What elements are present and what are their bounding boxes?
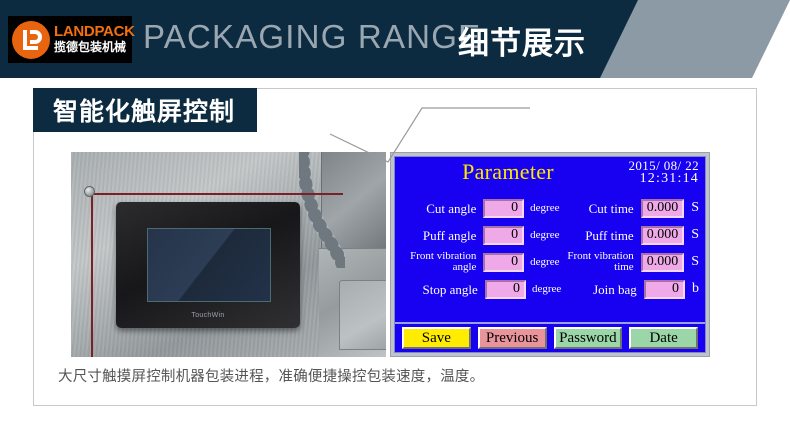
parameter-row: Front vibration angle 0 degree Front vib…	[399, 249, 699, 275]
page-header: LANDPACK 揽德包装机械 PACKAGING RANGE 细节展示	[0, 0, 790, 78]
front-vibration-time-unit: S	[684, 254, 699, 270]
hmi-parameter-screen: Parameter 2015/ 08/ 22 12:31:14 Cut angl…	[390, 152, 710, 357]
machine-photo: TouchWin	[71, 152, 386, 357]
join-bag-label: Join bag	[561, 284, 644, 295]
logo-brand-en: LANDPACK	[54, 24, 135, 40]
cut-angle-unit: degree	[524, 202, 559, 214]
hmi-header: Parameter 2015/ 08/ 22 12:31:14	[395, 157, 705, 193]
header-title-en: PACKAGING RANGE	[143, 18, 481, 56]
stop-angle-label: Stop angle	[399, 284, 485, 295]
date-button[interactable]: Date	[629, 327, 698, 349]
brand-logo: LANDPACK 揽德包装机械	[8, 16, 132, 63]
parameter-row: Cut angle 0 degree Cut time 0.000 S	[399, 195, 699, 221]
card-caption: 大尺寸触摸屏控制机器包装进程，准确便捷操控包装速度，温度。	[58, 365, 484, 386]
save-button[interactable]: Save	[402, 327, 471, 349]
puff-angle-label: Puff angle	[399, 230, 483, 241]
join-bag-field[interactable]: 0	[644, 280, 685, 299]
password-button[interactable]: Password	[554, 327, 623, 349]
header-title-cn: 细节展示	[458, 18, 586, 63]
hmi-button-bar: Save Previous Password Date	[395, 322, 705, 352]
card-title-banner: 智能化触屏控制	[33, 88, 257, 132]
front-vibration-angle-unit: degree	[524, 256, 559, 268]
puff-time-unit: S	[684, 227, 699, 243]
cut-time-field[interactable]: 0.000	[641, 199, 685, 218]
stop-angle-field[interactable]: 0	[485, 280, 526, 299]
hmi-time: 12:31:14	[628, 172, 699, 185]
photo-housing-inset	[339, 280, 386, 350]
photo-red-trim-vertical	[91, 193, 93, 357]
front-vibration-time-field[interactable]: 0.000	[641, 253, 685, 272]
front-vibration-angle-label: Front vibration angle	[399, 251, 483, 273]
cut-time-label: Cut time	[559, 203, 640, 214]
photo-cable-hose-icon	[299, 152, 345, 268]
cut-angle-field[interactable]: 0	[483, 199, 524, 218]
front-vibration-angle-field[interactable]: 0	[483, 253, 524, 272]
puff-time-field[interactable]: 0.000	[641, 226, 685, 245]
photo-touchscreen-bezel: TouchWin	[116, 202, 300, 328]
puff-angle-field[interactable]: 0	[483, 226, 524, 245]
previous-button[interactable]: Previous	[478, 327, 547, 349]
hmi-parameter-rows: Cut angle 0 degree Cut time 0.000 S Puff…	[395, 193, 705, 302]
puff-angle-unit: degree	[524, 229, 559, 241]
stop-angle-unit: degree	[526, 283, 561, 295]
photo-red-trim-horizontal	[91, 193, 343, 195]
cut-angle-label: Cut angle	[399, 203, 483, 214]
photo-touchscreen-brand: TouchWin	[116, 312, 300, 319]
join-bag-unit: b	[685, 281, 699, 297]
photo-touchscreen-display	[147, 228, 271, 302]
logo-monogram-icon	[12, 21, 50, 59]
photo-screw-icon	[84, 186, 95, 197]
hmi-screen-inner: Parameter 2015/ 08/ 22 12:31:14 Cut angl…	[394, 156, 706, 353]
logo-brand-cn: 揽德包装机械	[54, 40, 135, 55]
hmi-datetime: 2015/ 08/ 22 12:31:14	[628, 159, 699, 185]
parameter-row: Stop angle 0 degree Join bag 0 b	[399, 276, 699, 302]
parameter-row: Puff angle 0 degree Puff time 0.000 S	[399, 222, 699, 248]
front-vibration-time-label: Front vibration time	[559, 251, 640, 273]
cut-time-unit: S	[684, 200, 699, 216]
puff-time-label: Puff time	[559, 230, 640, 241]
